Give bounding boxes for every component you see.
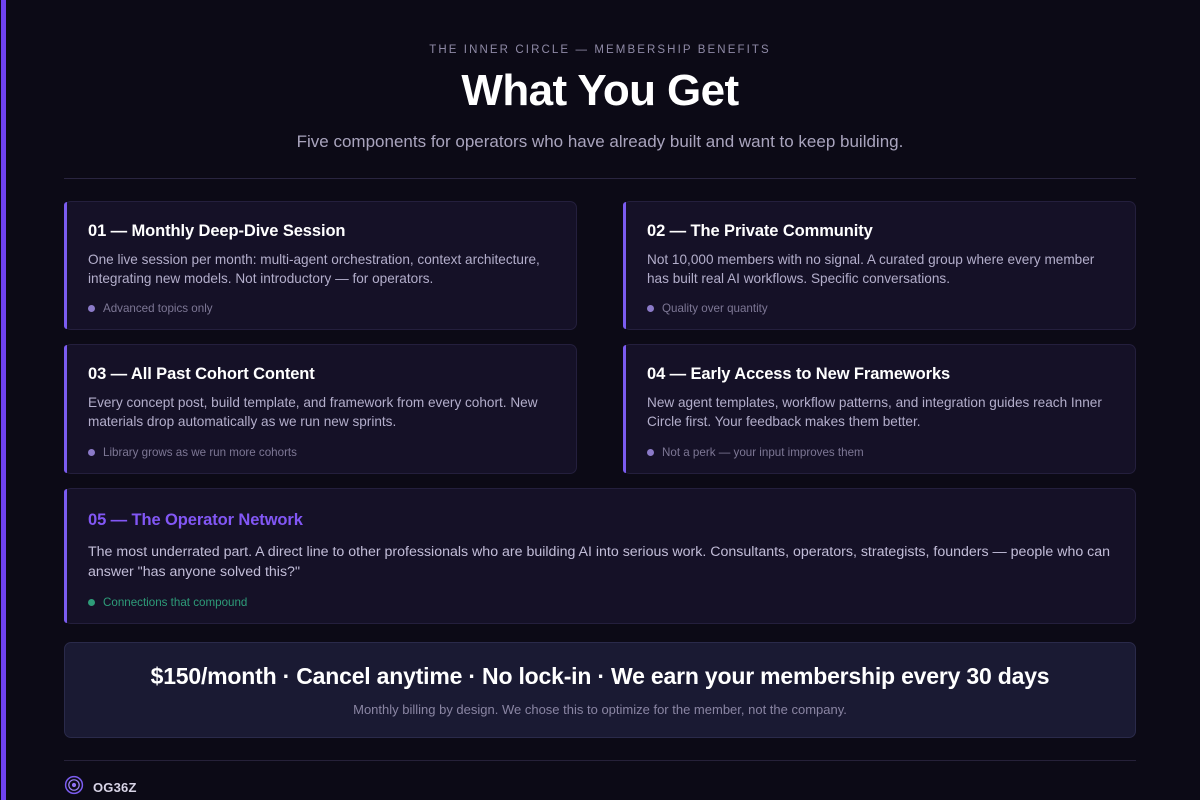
benefit-meta-label: Not a perk — your input improves them <box>662 446 864 459</box>
benefit-title: 04 — Early Access to New Frameworks <box>647 365 1113 384</box>
benefit-card-04[interactable]: 04 — Early Access to New Frameworks New … <box>623 344 1136 473</box>
meta-dot-icon <box>88 449 95 456</box>
pricing-headline: $150/month · Cancel anytime · No lock-in… <box>89 663 1111 690</box>
header-divider <box>64 178 1136 179</box>
benefit-body: Not 10,000 members with no signal. A cur… <box>647 251 1113 288</box>
meta-dot-icon <box>88 599 95 606</box>
brand-name: OG36Z <box>93 780 137 795</box>
page-accent-rail <box>1 0 6 800</box>
featured-benefit-meta: Connections that compound <box>88 596 1111 609</box>
page-root: THE INNER CIRCLE — MEMBERSHIP BENEFITS W… <box>0 0 1200 800</box>
benefit-card-02[interactable]: 02 — The Private Community Not 10,000 me… <box>623 201 1136 330</box>
featured-benefit-title: 05 — The Operator Network <box>88 511 1111 530</box>
benefit-card-05[interactable]: 05 — The Operator Network The most under… <box>64 488 1136 624</box>
footer-divider <box>64 760 1136 761</box>
page-title: What You Get <box>0 68 1200 114</box>
featured-benefit-meta-label: Connections that compound <box>103 596 247 609</box>
benefit-meta-label: Library grows as we run more cohorts <box>103 446 297 459</box>
meta-dot-icon <box>647 449 654 456</box>
benefit-card-01[interactable]: 01 — Monthly Deep-Dive Session One live … <box>64 201 577 330</box>
benefit-body: Every concept post, build template, and … <box>88 394 554 431</box>
benefit-title: 02 — The Private Community <box>647 222 1113 241</box>
benefit-meta: Library grows as we run more cohorts <box>88 446 554 459</box>
benefit-meta-label: Advanced topics only <box>103 302 213 315</box>
benefit-body: One live session per month: multi-agent … <box>88 251 554 288</box>
benefit-body: New agent templates, workflow patterns, … <box>647 394 1113 431</box>
benefit-meta: Not a perk — your input improves them <box>647 446 1113 459</box>
benefit-meta: Advanced topics only <box>88 302 554 315</box>
page-header: THE INNER CIRCLE — MEMBERSHIP BENEFITS W… <box>0 0 1200 179</box>
benefits-grid: 01 — Monthly Deep-Dive Session One live … <box>64 201 1136 473</box>
benefit-title: 01 — Monthly Deep-Dive Session <box>88 222 554 241</box>
featured-benefit-body: The most underrated part. A direct line … <box>88 542 1111 582</box>
pricing-banner[interactable]: $150/month · Cancel anytime · No lock-in… <box>64 642 1136 738</box>
featured-benefit-wrapper: 05 — The Operator Network The most under… <box>64 488 1136 624</box>
meta-dot-icon <box>88 305 95 312</box>
benefit-card-03[interactable]: 03 — All Past Cohort Content Every conce… <box>64 344 577 473</box>
pricing-subtext: Monthly billing by design. We chose this… <box>89 702 1111 717</box>
page-footer: OG36Z <box>64 775 1136 800</box>
meta-dot-icon <box>647 305 654 312</box>
benefit-title: 03 — All Past Cohort Content <box>88 365 554 384</box>
benefit-meta: Quality over quantity <box>647 302 1113 315</box>
eyebrow-label: THE INNER CIRCLE — MEMBERSHIP BENEFITS <box>0 44 1200 56</box>
page-subtitle: Five components for operators who have a… <box>0 132 1200 152</box>
benefit-meta-label: Quality over quantity <box>662 302 768 315</box>
concentric-circle-icon <box>64 775 84 800</box>
